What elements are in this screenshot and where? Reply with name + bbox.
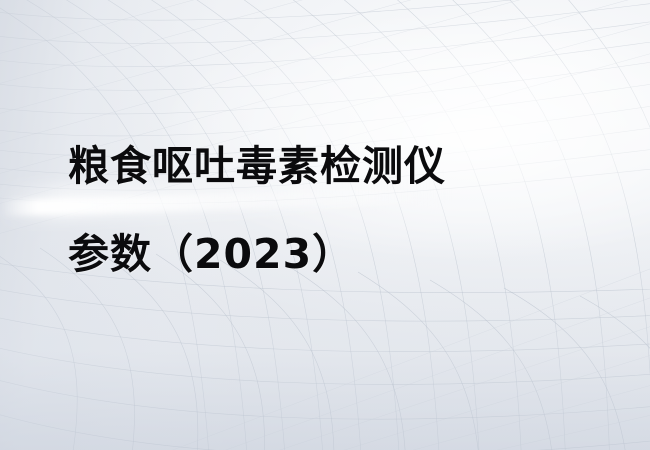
banner-title-line-2: 参数（2023） — [68, 210, 588, 298]
banner-title-line-1: 粮食呕吐毒素检测仪 — [68, 122, 588, 210]
title-banner: 粮食呕吐毒素检测仪 参数（2023） — [0, 0, 650, 450]
banner-title: 粮食呕吐毒素检测仪 参数（2023） — [68, 122, 588, 298]
